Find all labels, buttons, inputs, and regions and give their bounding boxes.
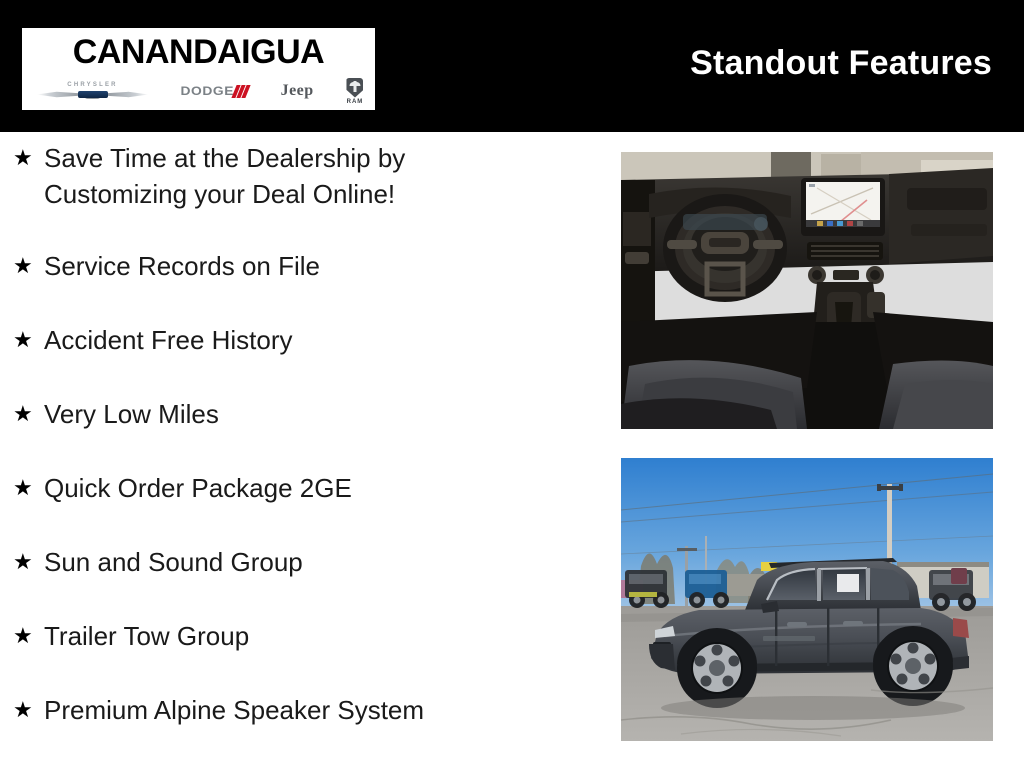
dealer-name: CANANDAIGUA	[73, 32, 324, 72]
list-item-label: Sun and Sound Group	[44, 544, 303, 580]
star-bullet-icon: ★	[13, 248, 44, 284]
star-bullet-icon: ★	[13, 396, 44, 432]
list-item-label: Service Records on File	[44, 248, 320, 284]
list-item-label: Accident Free History	[44, 322, 293, 358]
ram-wordmark: RAM	[347, 99, 364, 105]
standout-features-list: ★ Save Time at the Dealership by Customi…	[0, 140, 600, 766]
list-item-label: Quick Order Package 2GE	[44, 470, 352, 506]
list-item: ★ Service Records on File	[0, 248, 600, 284]
list-item-label: Very Low Miles	[44, 396, 219, 432]
dealer-logo: CANANDAIGUA CHRYSLER DODGE Jeep RAM	[22, 10, 375, 128]
dodge-stripes-shape	[234, 85, 248, 98]
list-item: ★ Premium Alpine Speaker System	[0, 692, 600, 728]
dealer-logo-plate: CANANDAIGUA CHRYSLER DODGE Jeep RAM	[22, 28, 375, 110]
chrysler-wordmark: CHRYSLER	[67, 82, 117, 89]
dodge-wordmark: DODGE	[181, 84, 234, 98]
list-item-label: Save Time at the Dealership by Customizi…	[44, 140, 405, 212]
chrysler-center-badge	[78, 91, 108, 98]
list-item: ★ Quick Order Package 2GE	[0, 470, 600, 506]
vehicle-exterior-photo	[621, 458, 993, 741]
page-title: Standout Features	[690, 44, 992, 83]
dodge-slashes-icon: DODGE	[184, 84, 248, 98]
vehicle-interior-photo	[621, 152, 993, 429]
interior-illustration	[621, 152, 993, 429]
ram-shield-icon: RAM	[346, 78, 363, 105]
star-bullet-icon: ★	[13, 692, 44, 728]
list-item-label: Trailer Tow Group	[44, 618, 249, 654]
exterior-illustration	[621, 458, 993, 741]
star-bullet-icon: ★	[13, 470, 44, 506]
list-item: ★ Save Time at the Dealership by Customi…	[0, 140, 600, 212]
jeep-wordmark-icon: Jeep	[281, 82, 314, 100]
ram-shield-shape	[346, 78, 363, 98]
star-bullet-icon: ★	[13, 322, 44, 358]
chrysler-wings-icon: CHRYSLER	[34, 81, 152, 101]
list-item-label: Premium Alpine Speaker System	[44, 692, 424, 728]
list-item: ★ Accident Free History	[0, 322, 600, 358]
list-item: ★ Sun and Sound Group	[0, 544, 600, 580]
star-bullet-icon: ★	[13, 140, 44, 176]
star-bullet-icon: ★	[13, 618, 44, 654]
header-bar: CANANDAIGUA CHRYSLER DODGE Jeep RAM	[0, 0, 1024, 132]
list-item: ★ Very Low Miles	[0, 396, 600, 432]
list-item: ★ Trailer Tow Group	[0, 618, 600, 654]
star-bullet-icon: ★	[13, 544, 44, 580]
brand-logo-row: CHRYSLER DODGE Jeep RAM	[34, 76, 364, 106]
